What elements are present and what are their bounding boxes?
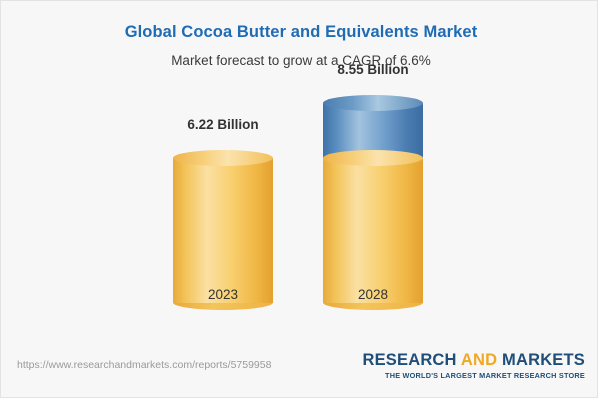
logo-wordmark: RESEARCH AND MARKETS [362,351,585,370]
logo-tagline: THE WORLD'S LARGEST MARKET RESEARCH STOR… [362,371,585,380]
chart-title: Global Cocoa Butter and Equivalents Mark… [1,23,598,42]
logo-word-markets: MARKETS [502,351,585,369]
brand-logo[interactable]: RESEARCH AND MARKETS THE WORLD'S LARGEST… [362,351,585,380]
bar-data-label: 6.22 Billion [143,117,303,132]
cylinder-top-cap [323,95,423,111]
x-axis-label-2023: 2023 [143,287,303,302]
cylinder-segment-divider-cap [323,150,423,166]
logo-word-and: AND [461,351,497,369]
x-axis-label-2028: 2028 [293,287,453,302]
plot-area: 6.22 Billion 2023 8.55 Billion 2028 [1,81,598,346]
bar-data-label: 8.55 Billion [293,62,453,77]
source-url[interactable]: https://www.researchandmarkets.com/repor… [17,359,271,371]
cylinder-body-base [323,158,423,303]
footer: https://www.researchandmarkets.com/repor… [1,345,598,397]
cylinder-body-base [173,158,273,303]
cylinder-top-cap [173,150,273,166]
logo-word-research: RESEARCH [362,351,456,369]
chart-card: Global Cocoa Butter and Equivalents Mark… [0,0,598,398]
